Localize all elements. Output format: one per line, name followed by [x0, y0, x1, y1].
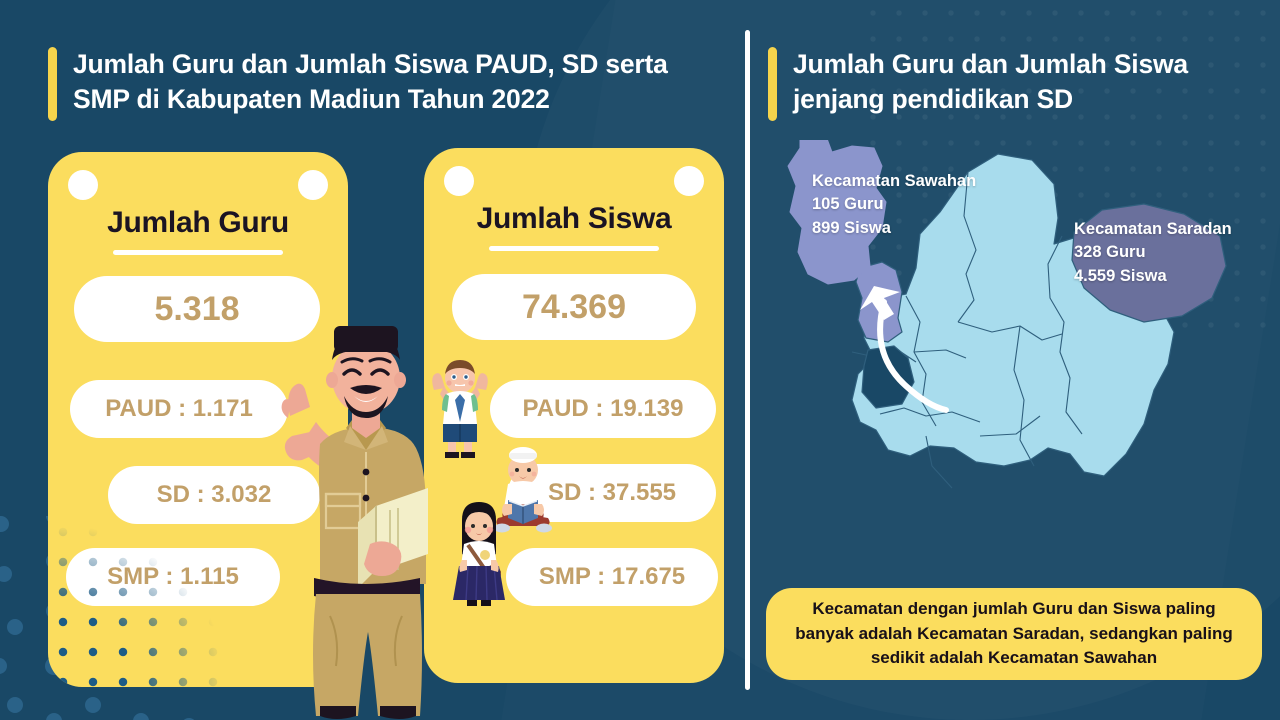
card-punch-hole-left-icon — [68, 170, 98, 200]
card-divider-guru — [113, 250, 283, 255]
siswa-total-pill: 74.369 — [452, 274, 696, 340]
card-title-siswa: Jumlah Siswa — [424, 202, 724, 236]
card-punch-hole-right-icon — [674, 166, 704, 196]
student-boy-illustration — [428, 356, 492, 460]
callout-saradan-siswa: 4.559 Siswa — [1074, 265, 1232, 288]
map-summary-caption-text: Kecamatan dengan jumlah Guru dan Siswa p… — [782, 597, 1246, 671]
callout-sawahan-siswa: 899 Siswa — [812, 217, 976, 240]
siswa-smp-pill: SMP : 17.675 — [506, 548, 718, 606]
card-divider-siswa — [489, 246, 659, 251]
callout-saradan-guru: 328 Guru — [1074, 241, 1232, 264]
map-callout-sawahan: Kecamatan Sawahan 105 Guru 899 Siswa — [812, 170, 976, 240]
guru-smp-pill: SMP : 1.115 — [66, 548, 280, 606]
right-title-text: Jumlah Guru dan Jumlah Siswa jenjang pen… — [793, 47, 1223, 117]
left-title-block: Jumlah Guru dan Jumlah Siswa PAUD, SD se… — [48, 47, 713, 121]
siswa-paud-pill: PAUD : 19.139 — [490, 380, 716, 438]
right-title-block: Jumlah Guru dan Jumlah Siswa jenjang pen… — [768, 47, 1223, 121]
callout-sawahan-name: Kecamatan Sawahan — [812, 170, 976, 193]
right-title-accent-bar — [768, 47, 777, 121]
callout-sawahan-guru: 105 Guru — [812, 193, 976, 216]
card-punch-hole-left-icon — [444, 166, 474, 196]
left-panel: Jumlah Guru dan Jumlah Siswa PAUD, SD se… — [0, 0, 748, 720]
left-title-accent-bar — [48, 47, 57, 121]
map-callout-saradan: Kecamatan Saradan 328 Guru 4.559 Siswa — [1074, 218, 1232, 288]
callout-saradan-name: Kecamatan Saradan — [1074, 218, 1232, 241]
student-girl-illustration — [448, 500, 510, 610]
map-summary-caption: Kecamatan dengan jumlah Guru dan Siswa p… — [766, 588, 1262, 680]
guru-paud-pill: PAUD : 1.171 — [70, 380, 288, 438]
left-title-text: Jumlah Guru dan Jumlah Siswa PAUD, SD se… — [73, 47, 713, 117]
card-title-guru: Jumlah Guru — [48, 206, 348, 240]
card-punch-hole-right-icon — [298, 170, 328, 200]
